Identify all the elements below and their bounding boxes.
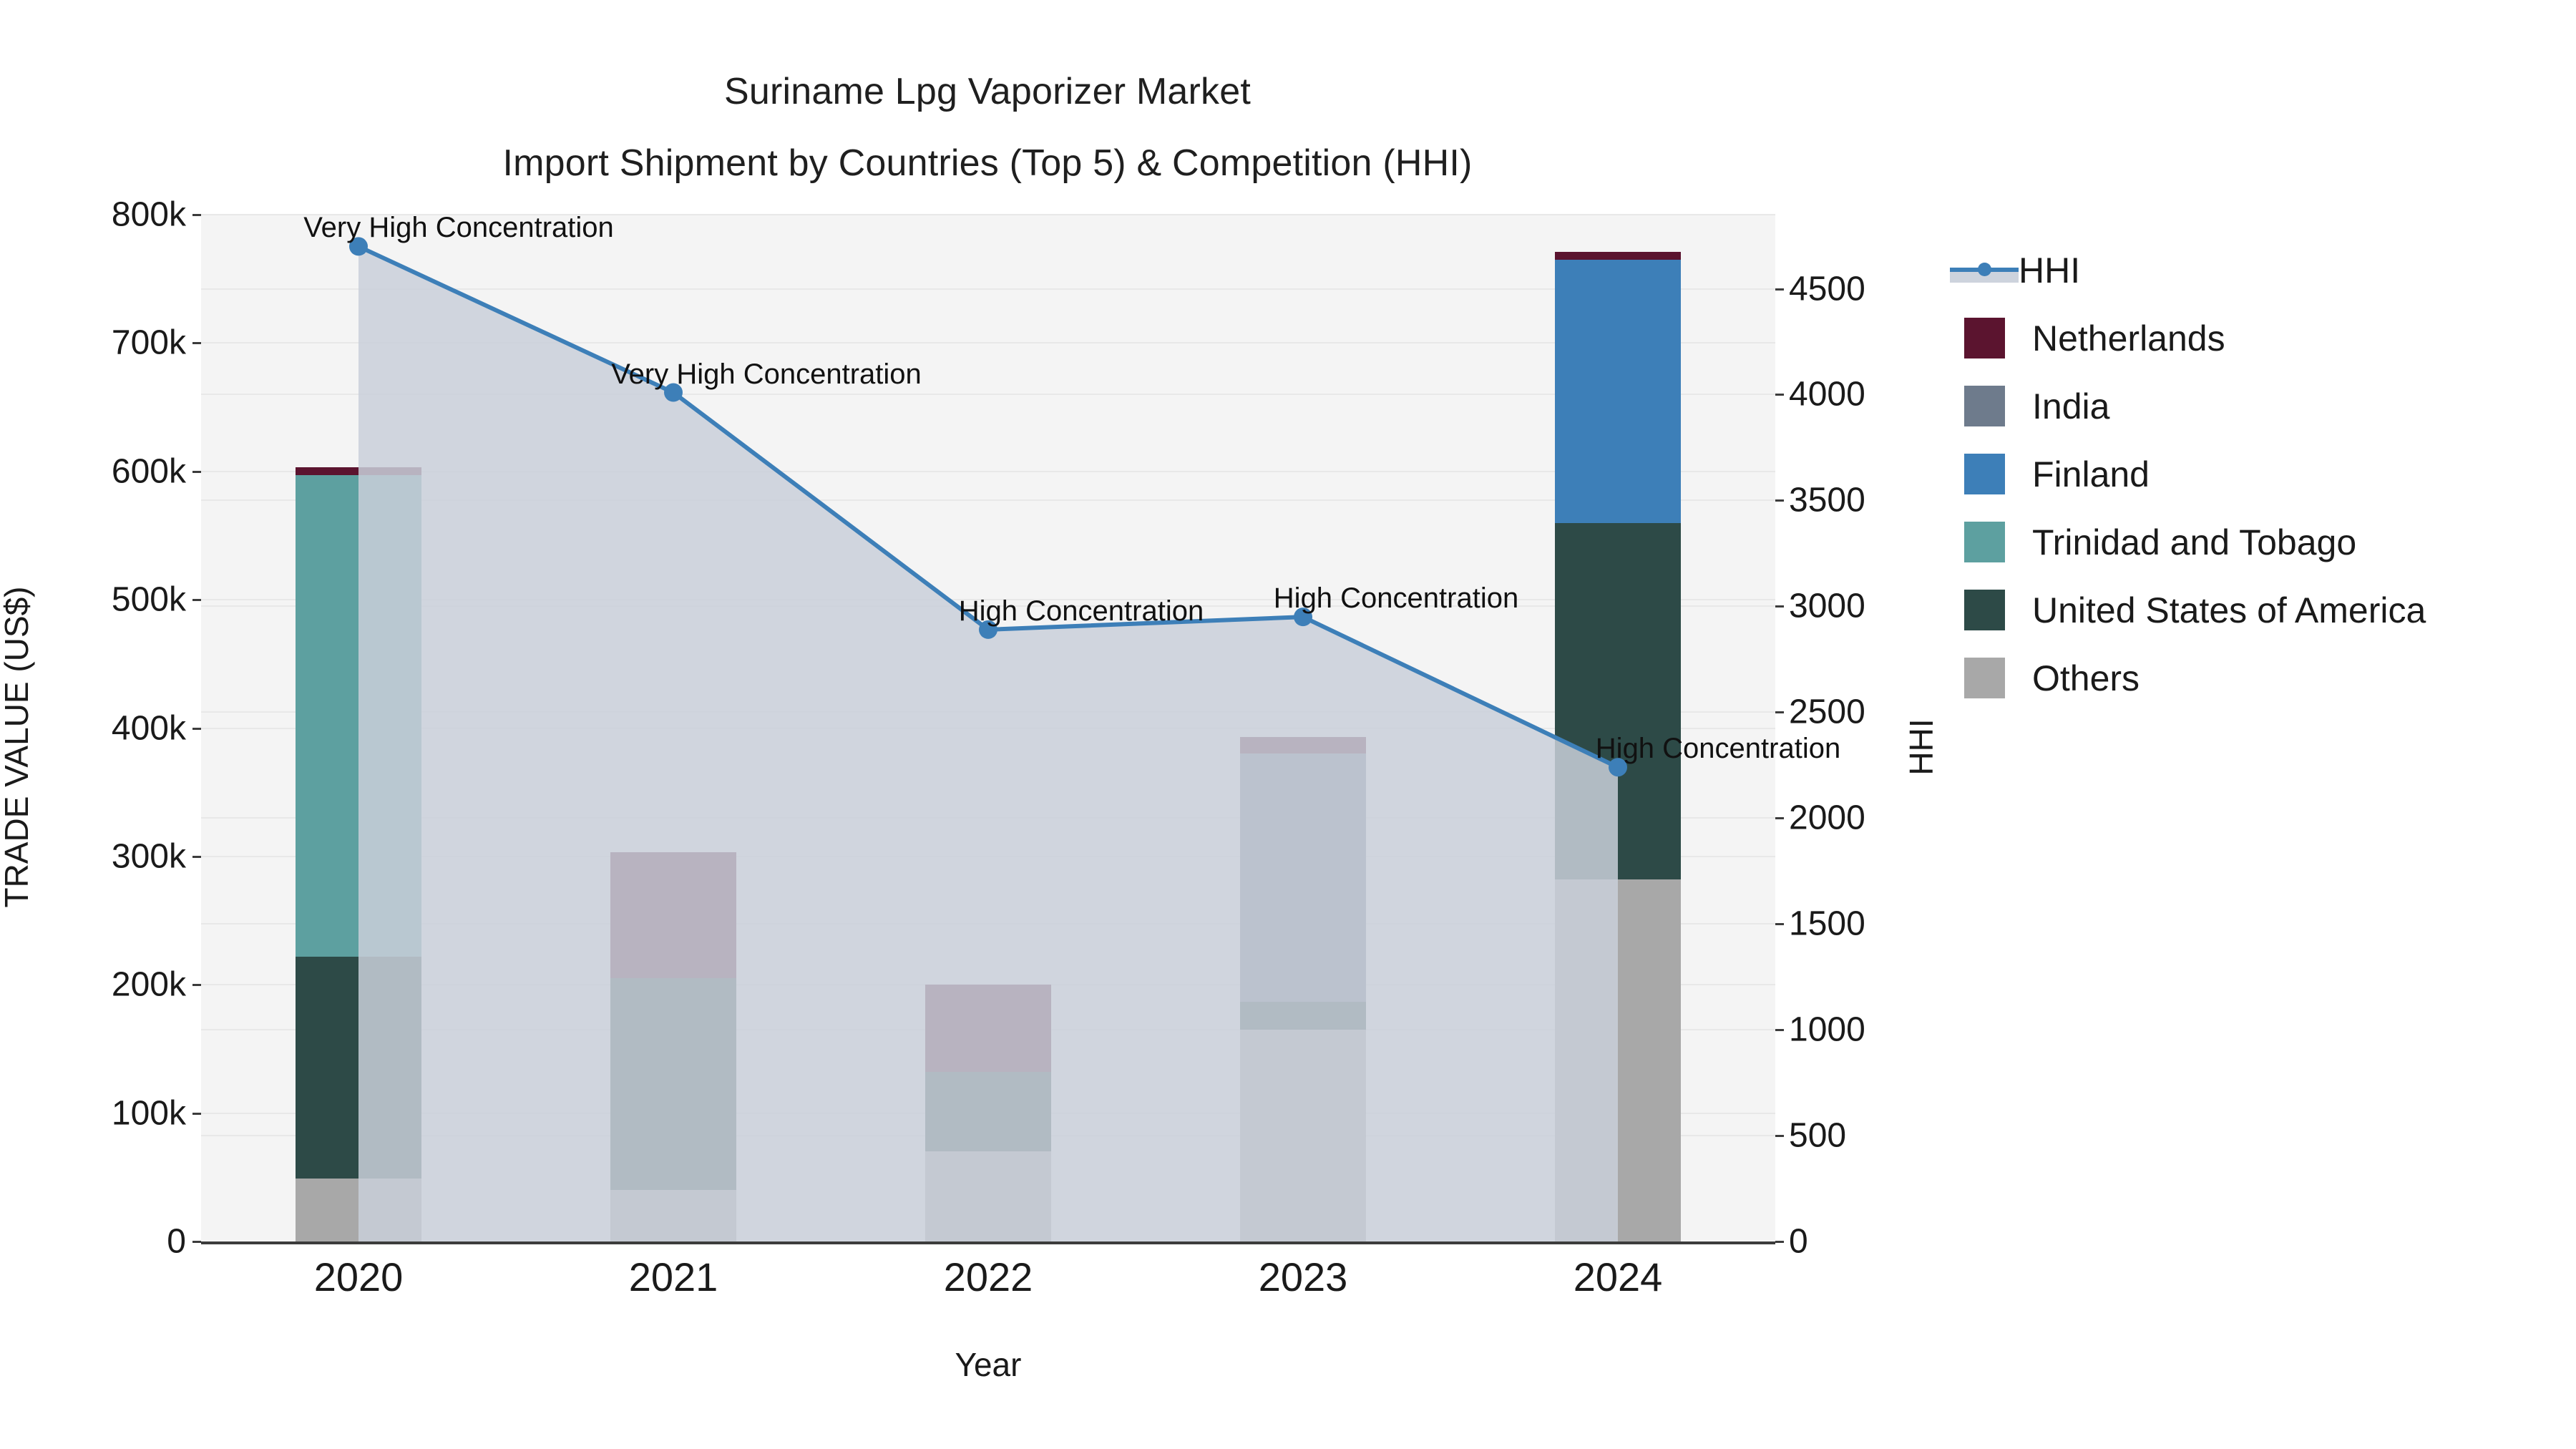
y-tick-mark-right xyxy=(1775,1029,1784,1031)
legend-item[interactable]: HHI xyxy=(1964,236,2551,304)
y-tick-label-right: 500 xyxy=(1789,1116,1953,1156)
legend-item-label: United States of America xyxy=(2032,590,2426,631)
legend-item[interactable]: Finland xyxy=(1964,440,2551,508)
y-tick-label-left: 500k xyxy=(21,580,186,620)
legend-color-swatch xyxy=(1964,318,2005,358)
gridline xyxy=(201,471,1775,472)
y-tick-mark-right xyxy=(1775,394,1784,396)
y-tick-label-left: 300k xyxy=(21,836,186,876)
x-tick-label: 2021 xyxy=(566,1254,781,1300)
y-tick-mark-left xyxy=(192,599,201,601)
legend-item[interactable]: Others xyxy=(1964,644,2551,712)
bar-segment xyxy=(610,852,736,978)
bar-segment xyxy=(1240,1002,1366,1030)
bar-segment xyxy=(296,1179,421,1241)
gridline-secondary xyxy=(201,923,1775,924)
y-tick-mark-right xyxy=(1775,923,1784,925)
legend-item[interactable]: Trinidad and Tobago xyxy=(1964,508,2551,576)
legend-line-icon xyxy=(1950,250,2019,291)
legend: HHINetherlandsIndiaFinlandTrinidad and T… xyxy=(1964,236,2551,712)
chart-title: Suriname Lpg Vaporizer Market xyxy=(0,56,1975,127)
y-tick-mark-right xyxy=(1775,711,1784,713)
hhi-annotation: Very High Concentration xyxy=(611,358,922,391)
y-tick-mark-right xyxy=(1775,288,1784,291)
legend-line-dot xyxy=(1978,263,1991,276)
bar-segment xyxy=(1240,753,1366,1001)
hhi-annotation: High Concentration xyxy=(1596,733,1840,765)
y-tick-label-left: 100k xyxy=(21,1093,186,1133)
gridline xyxy=(201,728,1775,729)
y-tick-mark-left xyxy=(192,214,201,216)
bar-segment xyxy=(1240,737,1366,753)
gridline xyxy=(201,856,1775,857)
legend-item-label: India xyxy=(2032,386,2109,427)
chart-figure: Suriname Lpg Vaporizer Market Import Shi… xyxy=(0,0,2576,1449)
y-tick-label-left: 400k xyxy=(21,708,186,748)
y-axis-right-label: HHI xyxy=(1902,389,1941,1105)
bar-segment xyxy=(925,985,1051,1072)
y-tick-label-left: 600k xyxy=(21,452,186,491)
legend-color-swatch xyxy=(1964,454,2005,494)
bar-segment xyxy=(925,1072,1051,1151)
bar-segment xyxy=(296,957,421,1179)
y-tick-label-left: 800k xyxy=(21,195,186,235)
y-tick-mark-left xyxy=(192,1241,201,1243)
x-axis-label: Year xyxy=(201,1345,1775,1384)
y-tick-label-left: 700k xyxy=(21,323,186,363)
legend-item-label: Trinidad and Tobago xyxy=(2032,522,2356,563)
x-tick-label: 2024 xyxy=(1511,1254,1725,1300)
legend-item[interactable]: United States of America xyxy=(1964,576,2551,644)
legend-item-label: Others xyxy=(2032,658,2140,699)
gridline-secondary xyxy=(201,499,1775,501)
legend-color-swatch xyxy=(1964,386,2005,426)
x-axis-baseline xyxy=(201,1241,1775,1244)
gridline xyxy=(201,342,1775,343)
y-tick-mark-left xyxy=(192,856,201,858)
bar-segment xyxy=(1555,879,1681,1241)
bar-segment xyxy=(1240,1030,1366,1241)
bar-segment xyxy=(610,978,736,1190)
legend-color-swatch xyxy=(1964,658,2005,698)
legend-item-label: Netherlands xyxy=(2032,318,2225,359)
plot-area xyxy=(201,215,1775,1241)
chart-subtitle: Import Shipment by Countries (Top 5) & C… xyxy=(0,127,1975,199)
y-tick-label-right: 4500 xyxy=(1789,269,1953,308)
x-tick-label: 2020 xyxy=(251,1254,466,1300)
bar-segment xyxy=(1555,260,1681,523)
y-tick-label-right: 0 xyxy=(1789,1222,1953,1262)
y-tick-mark-left xyxy=(192,1113,201,1115)
legend-item[interactable]: Netherlands xyxy=(1964,304,2551,372)
legend-color-swatch xyxy=(1964,590,2005,630)
hhi-annotation: Very High Concentration xyxy=(303,212,614,244)
y-tick-mark-right xyxy=(1775,1241,1784,1243)
bar-segment xyxy=(610,1190,736,1241)
bar-segment xyxy=(1555,252,1681,260)
legend-color-swatch xyxy=(1964,522,2005,562)
x-tick-label: 2023 xyxy=(1196,1254,1410,1300)
bar-segment xyxy=(925,1151,1051,1241)
y-tick-mark-right xyxy=(1775,817,1784,819)
gridline-secondary xyxy=(201,394,1775,395)
y-tick-mark-right xyxy=(1775,605,1784,608)
gridline-secondary xyxy=(201,288,1775,290)
y-tick-label-left: 0 xyxy=(21,1222,186,1262)
chart-title-block: Suriname Lpg Vaporizer Market Import Shi… xyxy=(0,56,1975,199)
bar-segment xyxy=(296,475,421,957)
y-tick-mark-right xyxy=(1775,499,1784,502)
gridline-secondary xyxy=(201,817,1775,819)
y-tick-label-left: 200k xyxy=(21,965,186,1005)
legend-item[interactable]: India xyxy=(1964,372,2551,440)
x-tick-label: 2022 xyxy=(881,1254,1096,1300)
y-tick-mark-left xyxy=(192,471,201,473)
y-tick-mark-left xyxy=(192,342,201,344)
bar-segment xyxy=(1555,523,1681,880)
hhi-annotation: High Concentration xyxy=(959,595,1204,628)
gridline-secondary xyxy=(201,711,1775,713)
y-tick-mark-left xyxy=(192,728,201,730)
legend-item-label: HHI xyxy=(2019,250,2080,291)
y-axis-left-label: TRADE VALUE (US$) xyxy=(0,389,36,1105)
legend-item-label: Finland xyxy=(2032,454,2150,495)
y-tick-mark-right xyxy=(1775,1135,1784,1137)
bar-segment xyxy=(296,467,421,475)
hhi-annotation: High Concentration xyxy=(1274,582,1518,615)
y-tick-mark-left xyxy=(192,984,201,986)
